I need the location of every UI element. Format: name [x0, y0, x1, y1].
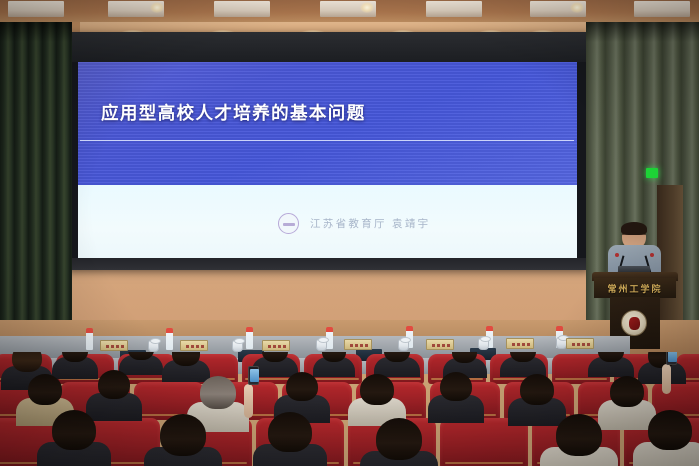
ceiling-panel — [8, 1, 64, 17]
smartphone-camera — [248, 366, 259, 385]
ceiling-panel — [634, 1, 690, 17]
slide-title-banner — [78, 62, 577, 185]
audience-member-head — [268, 412, 312, 452]
tea-cup — [398, 339, 409, 351]
slide-body: 江苏省教育厅 袁靖宇 — [78, 185, 577, 258]
podium-nameplate-panel: 常州工学院 — [594, 278, 676, 298]
stage-curtain-left — [0, 22, 72, 340]
name-placard — [566, 338, 594, 349]
audience-member-head — [52, 410, 96, 450]
audience-member-head — [160, 414, 206, 456]
audience-member-head — [98, 370, 130, 399]
audience-member-head — [200, 376, 236, 409]
ceiling-panel — [426, 1, 482, 17]
ceiling-panel — [214, 1, 270, 17]
presentation-slide: 应用型高校人才培养的基本问题 江苏省教育厅 袁靖宇 — [78, 62, 577, 258]
ceiling-light-glow — [360, 2, 374, 13]
auditorium-scene: 应用型高校人才培养的基本问题 江苏省教育厅 袁靖宇 — [0, 0, 699, 466]
screen-bottom-border — [66, 258, 589, 270]
slide-divider-line — [80, 140, 574, 141]
audience-member-head — [376, 418, 422, 460]
audience-member-head — [520, 374, 554, 405]
water-bottle — [86, 328, 93, 350]
slide-subtitle: 江苏省教育厅 袁靖宇 — [310, 216, 430, 231]
audience-member-head — [556, 414, 602, 456]
audience-member-head — [440, 372, 472, 401]
curtain-top-shadow-left — [0, 22, 72, 42]
audience-member-head — [12, 352, 42, 372]
ceiling-light-glow — [570, 2, 584, 13]
name-placard — [262, 340, 290, 351]
audience-area — [0, 352, 699, 466]
smartphone-camera — [666, 352, 677, 365]
name-placard — [426, 339, 454, 350]
institution-seal-icon — [278, 213, 299, 234]
name-placard — [506, 338, 534, 349]
screen-top-border — [66, 32, 589, 62]
ceiling — [0, 0, 699, 22]
tea-cup — [478, 338, 489, 350]
audience-member-head — [360, 374, 394, 405]
raised-arm — [662, 364, 671, 394]
slide-subtitle-group: 江苏省教育厅 袁靖宇 — [278, 213, 430, 234]
name-placard — [344, 339, 372, 350]
ceiling-light-glow — [150, 2, 164, 13]
microphone-head-right — [650, 253, 654, 257]
tea-cup — [148, 340, 159, 352]
projection-screen: 应用型高校人才培养的基本问题 江苏省教育厅 袁靖宇 — [66, 32, 589, 270]
tea-cup — [232, 340, 243, 352]
water-bottle — [166, 328, 173, 350]
audience-member-head — [286, 372, 318, 401]
speaker-hair — [621, 222, 647, 235]
raised-arm — [244, 384, 253, 418]
emergency-exit-icon — [646, 168, 658, 178]
slide-title: 应用型高校人才培养的基本问题 — [101, 105, 366, 123]
water-bottle — [246, 327, 253, 349]
audience-member-head — [648, 410, 692, 450]
audience-member-head — [610, 376, 644, 407]
audience-member-head — [28, 374, 62, 405]
microphone-head-left — [615, 253, 619, 257]
name-placard — [180, 340, 208, 351]
podium-and-speaker: 常州工学院 — [588, 220, 680, 350]
name-placard — [100, 340, 128, 351]
university-crest-icon — [621, 310, 647, 336]
tea-cup — [316, 339, 327, 351]
curtain-top-shadow-right — [586, 22, 699, 42]
podium-nameplate: 常州工学院 — [607, 282, 662, 295]
